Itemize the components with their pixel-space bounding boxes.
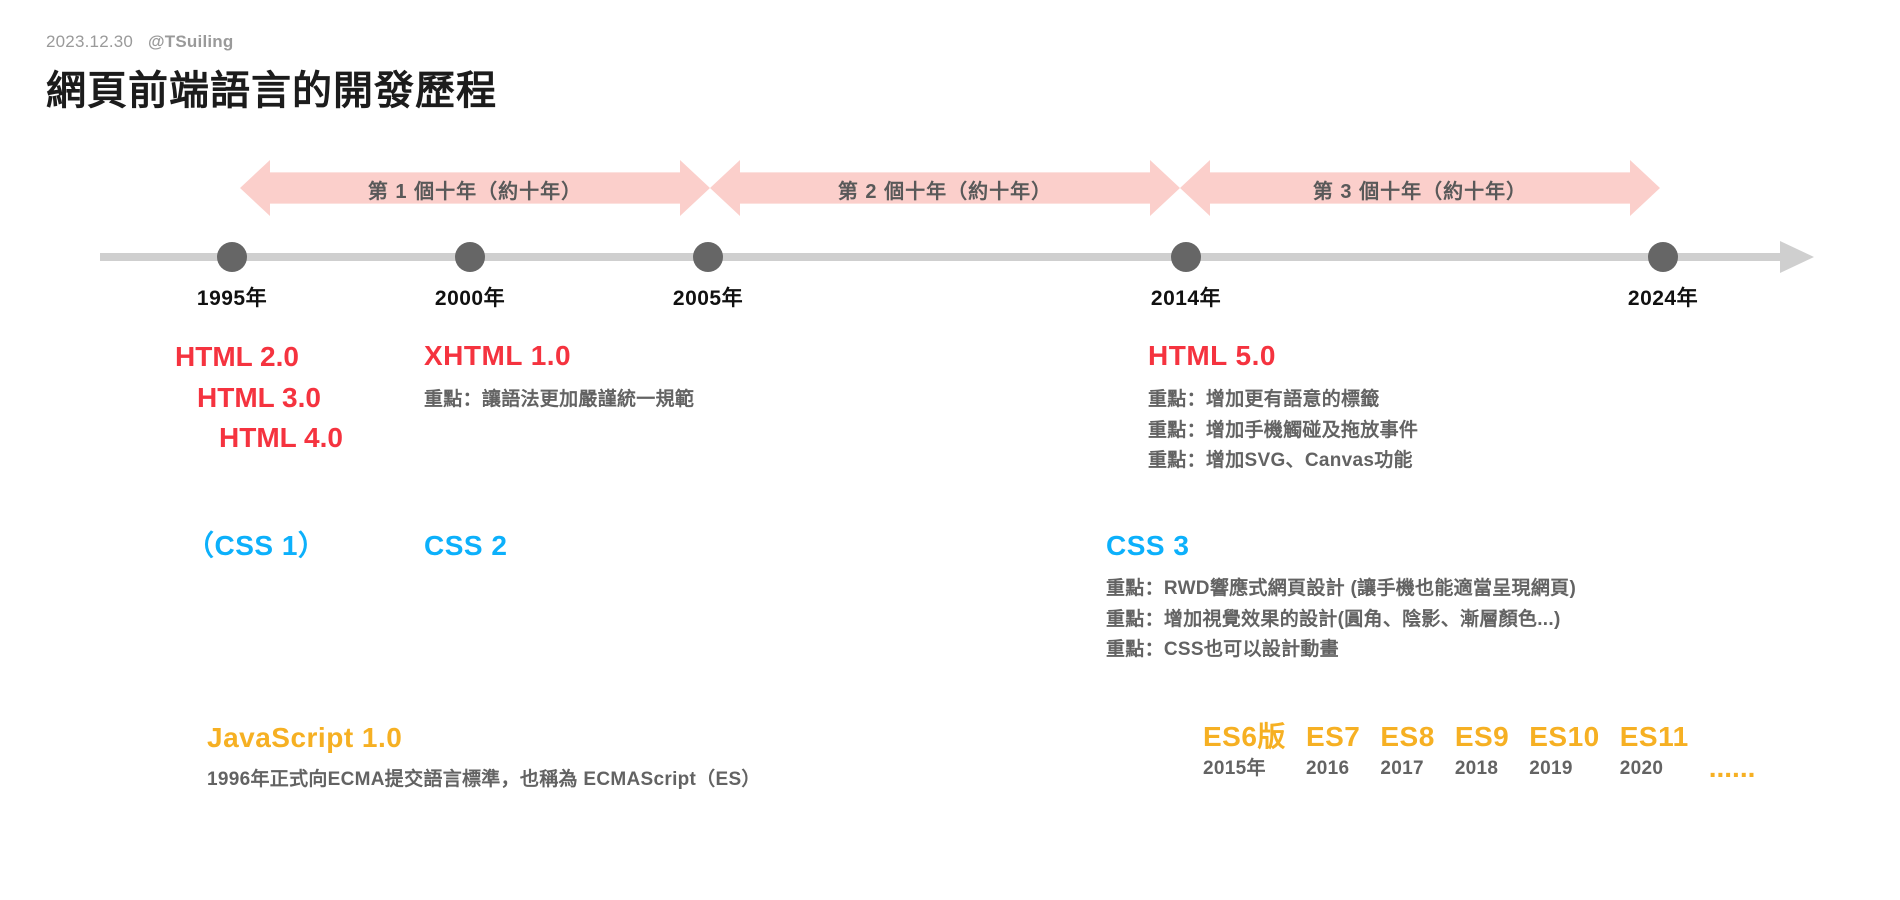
html5-note-2: 重點：增加手機觸碰及拖放事件 <box>1148 416 1418 447</box>
timeline-year-2024: 2024年 <box>1628 282 1698 312</box>
es11-year: 2020 <box>1620 755 1689 784</box>
xhtml-title: XHTML 1.0 <box>424 337 694 375</box>
timeline-dot-1995 <box>217 242 247 272</box>
css1-block: （CSS 1） <box>186 527 326 565</box>
es6-year: 2015年 <box>1203 755 1286 784</box>
html-version-4: HTML 4.0 <box>219 418 343 459</box>
javascript-note-1: 1996年正式向ECMA提交語言標準，也稱為 ECMAScript（ES） <box>207 765 761 796</box>
css2-block: CSS 2 <box>424 527 507 565</box>
timeline-year-2005: 2005年 <box>673 282 743 312</box>
meta-line: 2023.12.30 @TSuiling <box>46 32 497 52</box>
timeline-dot-2005 <box>693 242 723 272</box>
timeline-year-2014: 2014年 <box>1151 282 1221 312</box>
html5-block: HTML 5.0 重點：增加更有語意的標籤 重點：增加手機觸碰及拖放事件 重點：… <box>1148 337 1418 477</box>
javascript-title: JavaScript 1.0 <box>207 719 761 757</box>
html5-note-1: 重點：增加更有語意的標籤 <box>1148 385 1418 416</box>
css3-block: CSS 3 重點：RWD響應式網頁設計 (讓手機也能適當呈現網頁) 重點：增加視… <box>1106 527 1576 666</box>
decade-arrow-3: 第 3 個十年（約十年） <box>1180 160 1660 216</box>
es11-name: ES11 <box>1620 719 1689 755</box>
arrow-right-icon <box>1780 241 1814 273</box>
css3-note-1: 重點：RWD響應式網頁設計 (讓手機也能適當呈現網頁) <box>1106 574 1576 605</box>
css2-title: CSS 2 <box>424 527 507 565</box>
es-column-more: ...... <box>1709 752 1756 784</box>
css1-title: （CSS 1） <box>186 527 326 565</box>
es-column-es11: ES11 2020 <box>1620 719 1689 784</box>
es-column-es10: ES10 2019 <box>1529 719 1600 784</box>
es10-name: ES10 <box>1529 719 1600 755</box>
timeline-dot-2014 <box>1171 242 1201 272</box>
es6-name: ES6版 <box>1203 719 1286 755</box>
es-versions-block: ES6版 2015年 ES7 2016 ES8 2017 ES9 2018 ES… <box>1203 719 1775 784</box>
es9-year: 2018 <box>1455 755 1509 784</box>
es-more-label: ...... <box>1709 752 1756 784</box>
timeline-axis <box>100 253 1784 261</box>
es-column-es7: ES7 2016 <box>1306 719 1360 784</box>
page-header: 2023.12.30 @TSuiling 網頁前端語言的開發歷程 <box>46 32 497 116</box>
es8-year: 2017 <box>1380 755 1434 784</box>
decade-arrow-band: 第 1 個十年（約十年） 第 2 個十年（約十年） 第 3 個十年（約十年） <box>0 160 1900 222</box>
xhtml-block: XHTML 1.0 重點：讓語法更加嚴謹統一規範 <box>424 337 694 416</box>
es9-name: ES9 <box>1455 719 1509 755</box>
decade-arrow-2: 第 2 個十年（約十年） <box>710 160 1180 216</box>
timeline-year-2000: 2000年 <box>435 282 505 312</box>
html5-title: HTML 5.0 <box>1148 337 1418 375</box>
xhtml-note-1: 重點：讓語法更加嚴謹統一規範 <box>424 385 694 416</box>
es-versions-list: ES6版 2015年 ES7 2016 ES8 2017 ES9 2018 ES… <box>1203 719 1775 784</box>
es7-year: 2016 <box>1306 755 1360 784</box>
timeline-dot-2024 <box>1648 242 1678 272</box>
css3-title: CSS 3 <box>1106 527 1576 565</box>
decade-arrow-1-label: 第 1 個十年（約十年） <box>368 173 582 204</box>
page-title: 網頁前端語言的開發歷程 <box>46 58 497 116</box>
es8-name: ES8 <box>1380 719 1434 755</box>
html-early-versions-block: HTML 2.0 HTML 3.0 HTML 4.0 <box>175 337 343 459</box>
es-column-es6: ES6版 2015年 <box>1203 719 1286 784</box>
timeline-dot-2000 <box>455 242 485 272</box>
es-column-es9: ES9 2018 <box>1455 719 1509 784</box>
decade-arrow-2-label: 第 2 個十年（約十年） <box>838 173 1052 204</box>
javascript-block: JavaScript 1.0 1996年正式向ECMA提交語言標準，也稱為 EC… <box>207 719 761 796</box>
html-version-3: HTML 3.0 <box>197 378 343 419</box>
html-version-2: HTML 2.0 <box>175 337 343 378</box>
es7-name: ES7 <box>1306 719 1360 755</box>
publish-date: 2023.12.30 <box>46 32 133 51</box>
author-handle: @TSuiling <box>148 32 233 51</box>
decade-arrow-1: 第 1 個十年（約十年） <box>240 160 710 216</box>
html5-note-3: 重點：增加SVG、Canvas功能 <box>1148 446 1418 477</box>
es10-year: 2019 <box>1529 755 1600 784</box>
css3-note-3: 重點：CSS也可以設計動畫 <box>1106 635 1576 666</box>
css3-note-2: 重點：增加視覺效果的設計(圓角、陰影、漸層顏色...) <box>1106 605 1576 636</box>
timeline-year-1995: 1995年 <box>197 282 267 312</box>
es-column-es8: ES8 2017 <box>1380 719 1434 784</box>
decade-arrow-3-label: 第 3 個十年（約十年） <box>1313 173 1527 204</box>
